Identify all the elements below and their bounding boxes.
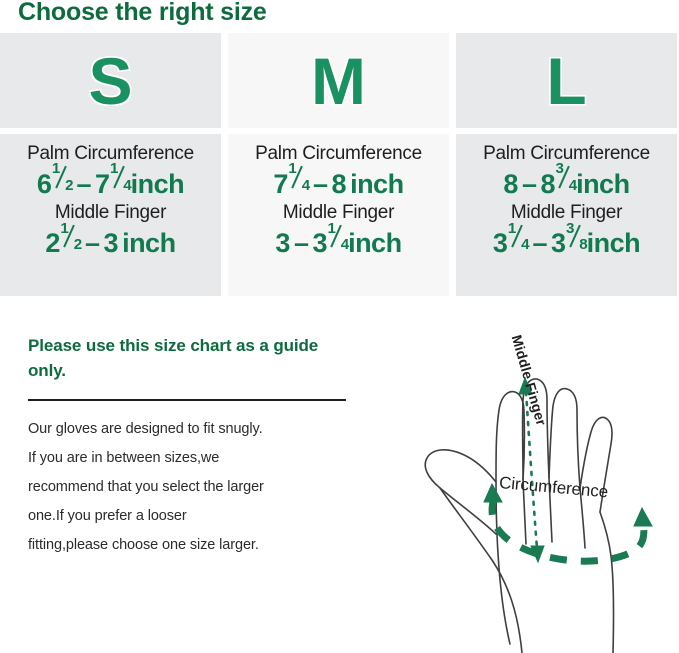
size-letter-panel-m: M [228, 33, 449, 128]
hand-right-edge [600, 512, 614, 653]
finger-unit-m: inch [348, 226, 402, 261]
palm-circumference-value-l: 8–834inch [503, 166, 629, 202]
palm-from-fraction-m: 14 [288, 166, 309, 193]
middle-finger-value-l: 314–338inch [493, 225, 640, 261]
palm-unit-m: inch [350, 167, 404, 202]
finger-dash-l: – [532, 226, 547, 261]
palm-from-fraction-s: 12 [51, 166, 72, 193]
ring-finger-outline [549, 389, 580, 488]
finger-dash-m: – [294, 226, 309, 261]
guide-note-line: one.If you prefer a looser [28, 502, 358, 531]
size-column-m: M Palm Circumference 714–8inch Middle Fi… [228, 33, 449, 296]
size-letter-panel-s: S [0, 33, 221, 128]
finger-from-whole-s: 2 [45, 226, 60, 261]
size-letter-s: S [88, 48, 132, 114]
middle-finger-value-m: 3–314inch [275, 225, 401, 261]
palm-circumference-value-s: 612–714inch [37, 166, 184, 202]
finger-to-whole-m: 3 [312, 226, 327, 261]
finger-to-fraction-l: 38 [566, 225, 587, 252]
finger-from-fraction-l: 14 [507, 225, 528, 252]
finger-unit-s: inch [122, 226, 176, 261]
guide-note-body: Our gloves are designed to fit snugly. I… [28, 415, 358, 560]
finger-to-fraction-m: 14 [327, 225, 348, 252]
size-grid: S Palm Circumference 612–714inch Middle … [0, 33, 679, 296]
palm-from-whole-m: 7 [273, 167, 288, 202]
finger-from-whole-l: 3 [493, 226, 508, 261]
middle-finger-value-s: 212–3inch [45, 225, 175, 261]
size-letter-panel-l: L [456, 33, 677, 128]
guide-note: Please use this size chart as a guide on… [28, 334, 358, 560]
palm-unit-s: inch [131, 167, 185, 202]
size-letter-l: L [546, 48, 586, 114]
arrowhead-right [634, 508, 652, 526]
palm-to-fraction-s: 14 [110, 166, 131, 193]
palm-left-edge [440, 488, 522, 653]
palm-circumference-label-l: Palm Circumference [483, 142, 650, 166]
palm-circumference-value-m: 714–8inch [273, 166, 403, 202]
finger-to-whole-s: 3 [104, 226, 119, 261]
palm-dash-m: – [313, 167, 328, 202]
finger-from-fraction-s: 12 [60, 225, 81, 252]
size-column-l: L Palm Circumference 8–834inch Middle Fi… [456, 33, 677, 296]
guide-note-heading: Please use this size chart as a guide on… [28, 334, 358, 383]
divider [28, 399, 346, 401]
size-measurements-m: Palm Circumference 714–8inch Middle Fing… [228, 134, 449, 296]
finger-from-whole-m: 3 [275, 226, 290, 261]
palm-to-whole-s: 7 [95, 167, 110, 202]
finger-to-whole-l: 3 [551, 226, 566, 261]
size-column-s: S Palm Circumference 612–714inch Middle … [0, 33, 221, 296]
middle-finger-label-m: Middle Finger [283, 201, 394, 225]
palm-to-fraction-l: 34 [555, 166, 576, 193]
index-finger-outline [496, 392, 524, 644]
size-measurements-s: Palm Circumference 612–714inch Middle Fi… [0, 134, 221, 296]
page-title: Choose the right size [18, 0, 267, 27]
size-letter-m: M [311, 48, 366, 114]
palm-dash-l: – [522, 167, 537, 202]
palm-to-whole-m: 8 [332, 167, 347, 202]
finger-unit-l: inch [587, 226, 641, 261]
thumb-outline [425, 450, 496, 534]
palm-to-whole-l: 8 [540, 167, 555, 202]
middle-finger-label-s: Middle Finger [55, 201, 166, 225]
palm-from-whole-s: 6 [37, 167, 52, 202]
palm-circumference-label-m: Palm Circumference [255, 142, 422, 166]
palm-dash-s: – [76, 167, 91, 202]
guide-note-line: fitting,please choose one size larger. [28, 531, 358, 560]
palm-from-whole-l: 8 [503, 167, 518, 202]
finger-dash-s: – [85, 226, 100, 261]
guide-note-line: recommend that you select the larger [28, 473, 358, 502]
guide-note-line: If you are in between sizes,we [28, 444, 358, 473]
palm-unit-l: inch [576, 167, 630, 202]
size-measurements-l: Palm Circumference 8–834inch Middle Fing… [456, 134, 677, 296]
guide-note-line: Our gloves are designed to fit snugly. [28, 415, 358, 444]
